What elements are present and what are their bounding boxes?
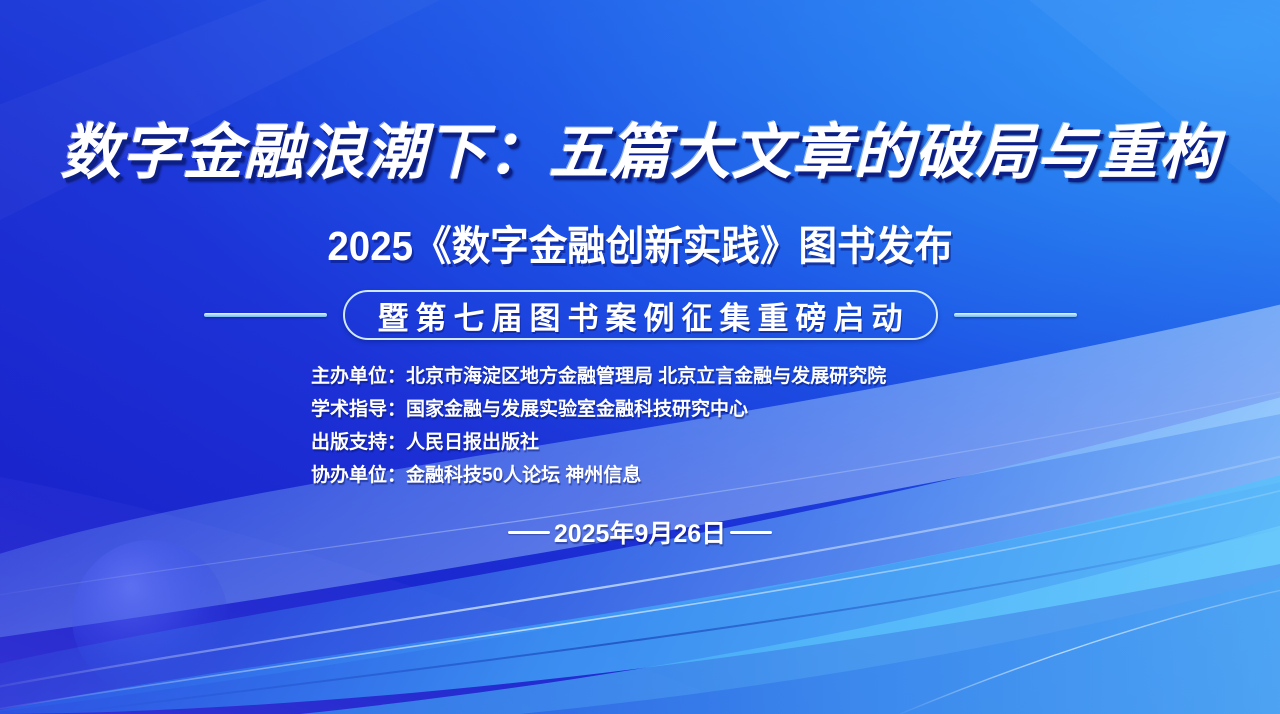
poster-canvas: 数字金融浪潮下：五篇大文章的破局与重构 2025《数字金融创新实践》图书发布 暨… — [0, 0, 1280, 714]
date-dash-left — [508, 531, 550, 534]
event-date: 2025年9月26日 — [554, 514, 726, 550]
highlight-banner-label: 暨第七届图书案例征集重磅启动 — [371, 293, 910, 338]
credit-line-cohost: 协办单位：金融科技50人论坛 神州信息 — [311, 459, 886, 492]
credit-line-academic: 学术指导：国家金融与发展实验室金融科技研究中心 — [311, 393, 886, 426]
highlight-banner: 暨第七届图书案例征集重磅启动 — [343, 290, 938, 340]
poster-content: 数字金融浪潮下：五篇大文章的破局与重构 2025《数字金融创新实践》图书发布 暨… — [0, 0, 1280, 714]
event-date-row: 2025年9月26日 — [0, 514, 1280, 550]
highlight-banner-row: 暨第七届图书案例征集重磅启动 — [0, 288, 1280, 342]
credits-block: 主办单位：北京市海淀区地方金融管理局 北京立言金融与发展研究院 学术指导：国家金… — [311, 360, 886, 492]
poster-subtitle: 2025《数字金融创新实践》图书发布 — [38, 212, 1241, 272]
credit-line-host: 主办单位：北京市海淀区地方金融管理局 北京立言金融与发展研究院 — [311, 360, 886, 393]
rule-right — [954, 313, 1077, 317]
page-title: 数字金融浪潮下：五篇大文章的破局与重构 — [0, 104, 1280, 191]
date-dash-right — [730, 531, 772, 534]
rule-left — [204, 313, 327, 317]
credit-line-publisher: 出版支持：人民日报出版社 — [311, 426, 886, 459]
